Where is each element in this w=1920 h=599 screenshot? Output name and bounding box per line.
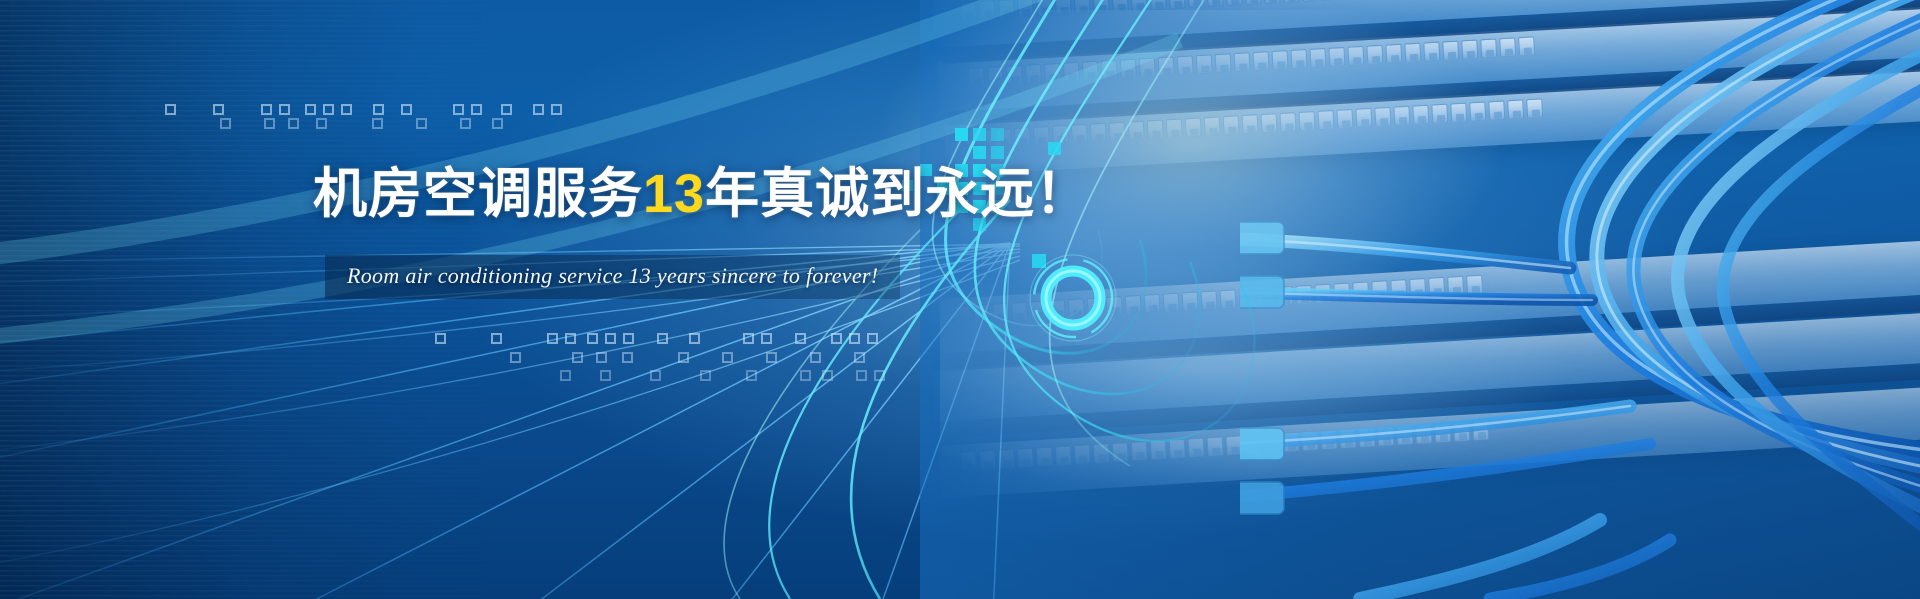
subtitle-panel: Room air conditioning service 13 years s… <box>325 255 900 299</box>
decor-square-row-bottom-c <box>560 370 890 384</box>
headline-suffix: 年真诚到永远！ <box>705 164 1090 224</box>
cyan-light-arcs <box>0 0 1920 599</box>
banner-subtitle: Room air conditioning service 13 years s… <box>347 264 878 288</box>
decor-square-row-top <box>165 104 545 118</box>
banner-headline: 机房空调服务13年真诚到永远！ <box>313 167 1090 221</box>
headline-highlight-years: 13 <box>643 164 705 224</box>
decor-square-row-bottom-b <box>510 352 890 366</box>
hero-banner: 机房空调服务13年真诚到永远！ Room air conditioning se… <box>0 0 1920 599</box>
glowing-ring-hud <box>1028 253 1118 343</box>
decor-square-row-bottom <box>435 333 885 347</box>
headline-prefix: 机房空调服务 <box>313 164 643 224</box>
decor-square-row-top-b <box>220 118 550 132</box>
